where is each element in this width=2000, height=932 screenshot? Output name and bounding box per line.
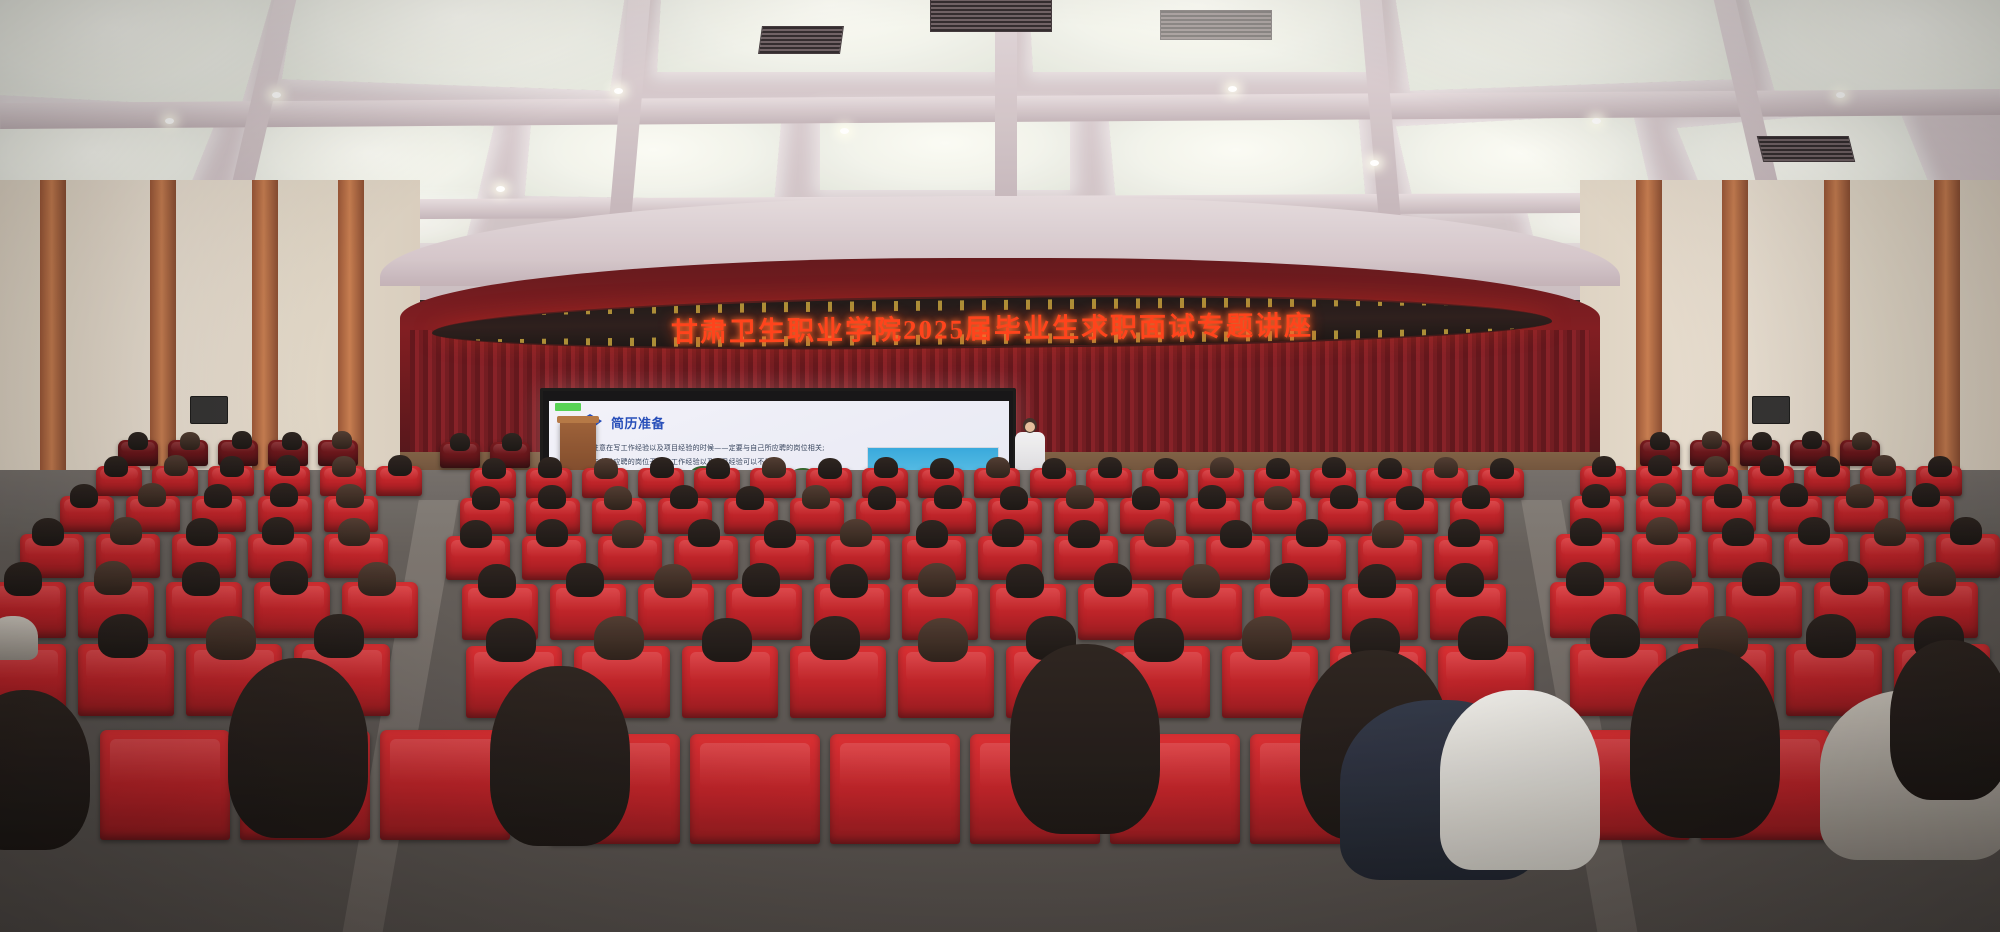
audience-member: [688, 519, 720, 547]
audience-member: [1806, 614, 1856, 658]
audience-member: [486, 618, 536, 662]
audience-member: [182, 562, 220, 596]
audience-member: [1830, 561, 1868, 595]
audience-member: [762, 457, 786, 478]
audience-member: [594, 458, 618, 479]
audience-member: [818, 458, 842, 479]
audience-member: [934, 485, 962, 509]
ceiling-air-vent: [1160, 10, 1272, 40]
audience-member: [1490, 458, 1514, 479]
audience-member: [1458, 616, 1508, 660]
audience-member: [1198, 485, 1226, 509]
audience-member: [104, 456, 128, 477]
audience-member: [332, 456, 356, 477]
audience-member: [1000, 486, 1028, 510]
audience-member: [1462, 485, 1490, 509]
audience-member: [1154, 458, 1178, 479]
audience-member: [1654, 561, 1692, 595]
audience-member: [986, 457, 1010, 478]
audience-member: [332, 431, 352, 449]
audience-member: [282, 432, 302, 450]
audience-member: [1098, 457, 1122, 478]
audience-member: [1220, 520, 1252, 548]
auditorium-seat: [100, 730, 230, 840]
audience-member: [868, 486, 896, 510]
audience-member: [314, 614, 364, 658]
audience-member: [1912, 483, 1940, 507]
audience-member: [110, 517, 142, 545]
audience-member: [502, 433, 522, 451]
audience-member: [450, 433, 470, 451]
audience-member: [536, 519, 568, 547]
wall-wood-panel: [40, 180, 66, 510]
audience-member: [918, 618, 968, 662]
audience-member: [1266, 458, 1290, 479]
audience-member: [128, 432, 148, 450]
ceiling-light-panel: [525, 116, 782, 200]
ceiling-light-panel: [282, 0, 628, 91]
audience-member: [1434, 457, 1458, 478]
audience-member: [1648, 455, 1672, 476]
audience-member: [1928, 456, 1952, 477]
recessed-ceiling-spotlight: [496, 186, 505, 192]
audience-member: [1094, 563, 1132, 597]
slide-bullet-text: 注意在写工作经验以及项目经验的时候——定要与自己所应聘的岗位相关;: [592, 444, 825, 452]
audience-member: [1448, 519, 1480, 547]
audience-member: [604, 486, 632, 510]
audience-member: [4, 562, 42, 596]
audience-member: [1330, 485, 1358, 509]
slide-bullet: • 注意在写工作经验以及项目经验的时候——定要与自己所应聘的岗位相关;: [585, 443, 825, 453]
audience-member: [1582, 484, 1610, 508]
audience-member: [538, 485, 566, 509]
recessed-ceiling-spotlight: [1228, 86, 1237, 92]
audience-member: [1010, 644, 1160, 834]
audience-member: [276, 455, 300, 476]
audience-member: [706, 458, 730, 479]
audience-member: [538, 457, 562, 478]
audience-member: [1296, 519, 1328, 547]
audience-member: [228, 658, 368, 838]
audience-member: [1242, 616, 1292, 660]
audience-member: [0, 616, 38, 660]
audience-member: [1068, 520, 1100, 548]
audience-member: [594, 616, 644, 660]
audience-member: [612, 520, 644, 548]
slide-status-indicator: [555, 403, 581, 411]
audience-member: [1650, 432, 1670, 450]
recessed-ceiling-spotlight: [1592, 118, 1601, 124]
audience-member: [270, 483, 298, 507]
audience-member: [1566, 562, 1604, 596]
podium-top: [557, 416, 599, 423]
audience-member: [1144, 519, 1176, 547]
audience-member: [566, 563, 604, 597]
audience-member: [220, 456, 244, 477]
ceiling-light-panel: [1392, 0, 1738, 91]
audience-member: [1752, 432, 1772, 450]
audience-member: [1570, 518, 1602, 546]
auditorium-photo: 甘肃卫生职业学院2025届毕业生求职面试专题讲座 简历准备 • 注意在写工作经验…: [0, 0, 2000, 932]
audience-member: [916, 520, 948, 548]
recessed-ceiling-spotlight: [1836, 92, 1845, 98]
audience-member: [1852, 432, 1872, 450]
audience-member: [1042, 458, 1066, 479]
audience-member: [1872, 455, 1896, 476]
audience-member: [490, 666, 630, 846]
audience-member: [1890, 640, 2000, 800]
recessed-ceiling-spotlight: [1370, 160, 1379, 166]
audience-member: [810, 616, 860, 660]
audience-member: [702, 618, 752, 662]
recessed-ceiling-spotlight: [165, 118, 174, 124]
ceiling-air-vent: [930, 0, 1052, 32]
slide-bullet-text: 与自己应聘的岗位无关的工作经验以及项目经验可以不用写;: [592, 458, 782, 466]
audience-member: [840, 519, 872, 547]
audience-member: [1950, 517, 1982, 545]
ceiling-light-panel: [820, 112, 1070, 190]
audience-member: [1714, 484, 1742, 508]
audience-member: [1396, 486, 1424, 510]
slide-title: 简历准备: [611, 413, 665, 432]
audience-member: [1648, 483, 1676, 507]
audience-member: [1440, 690, 1600, 870]
ceiling-air-vent: [758, 26, 844, 54]
audience-member: [206, 616, 256, 660]
audience-member: [1378, 458, 1402, 479]
auditorium-seat: [830, 734, 960, 844]
audience-member: [918, 563, 956, 597]
auditorium-seat: [690, 734, 820, 844]
audience-member: [478, 564, 516, 598]
audience-member: [32, 518, 64, 546]
audience-member: [1816, 456, 1840, 477]
audience-member: [336, 484, 364, 508]
recessed-ceiling-spotlight: [614, 88, 623, 94]
audience-member: [650, 457, 674, 478]
audience-member: [1646, 517, 1678, 545]
audience-member: [1722, 518, 1754, 546]
audience-member: [180, 432, 200, 450]
ceiling-air-vent: [1757, 136, 1855, 162]
audience-member: [742, 563, 780, 597]
audience-member: [802, 485, 830, 509]
audience-member: [1798, 517, 1830, 545]
audience-member: [736, 486, 764, 510]
audience-member: [270, 561, 308, 595]
audience-member: [1270, 563, 1308, 597]
audience-member: [1846, 484, 1874, 508]
audience-member: [94, 561, 132, 595]
audience-member: [262, 517, 294, 545]
audience-member: [992, 519, 1024, 547]
audience-member: [388, 455, 412, 476]
audience-member: [1264, 486, 1292, 510]
audience-member: [1874, 518, 1906, 546]
ceiling-light-panel: [1109, 116, 1366, 200]
audience-member: [482, 458, 506, 479]
audience-member: [1066, 485, 1094, 509]
wall-speaker-box: [1752, 396, 1790, 424]
audience-member: [1742, 562, 1780, 596]
audience-member: [1322, 457, 1346, 478]
recessed-ceiling-spotlight: [840, 128, 849, 134]
audience-member: [1446, 563, 1484, 597]
audience-member: [1358, 564, 1396, 598]
audience-member: [138, 483, 166, 507]
audience-member: [1704, 456, 1728, 477]
wall-speaker-box: [190, 396, 228, 424]
recessed-ceiling-spotlight: [272, 92, 281, 98]
audience-member: [670, 485, 698, 509]
audience-member: [1134, 618, 1184, 662]
audience-member: [472, 486, 500, 510]
audience-member: [1590, 614, 1640, 658]
audience-member: [98, 614, 148, 658]
audience-member: [830, 564, 868, 598]
audience-member: [338, 518, 370, 546]
audience-member: [1918, 562, 1956, 596]
audience-member: [764, 520, 796, 548]
audience-member: [1592, 456, 1616, 477]
audience-member: [1802, 431, 1822, 449]
audience-member: [874, 457, 898, 478]
audience-member: [930, 458, 954, 479]
audience-member: [70, 484, 98, 508]
ceiling-beam: [995, 0, 1017, 215]
audience-member: [1182, 564, 1220, 598]
podium: [560, 420, 596, 474]
audience-member: [1006, 564, 1044, 598]
presenter-face: [1025, 422, 1035, 432]
ceiling-light-panel: [0, 0, 275, 108]
audience-member: [1210, 457, 1234, 478]
audience-member: [186, 518, 218, 546]
audience-member: [654, 564, 692, 598]
audience-member: [460, 520, 492, 548]
audience-member: [1760, 455, 1784, 476]
audience-member: [1372, 520, 1404, 548]
audience-member: [164, 455, 188, 476]
audience-member: [1630, 648, 1780, 838]
audience-member: [1780, 483, 1808, 507]
audience-member: [1132, 486, 1160, 510]
audience-member: [204, 484, 232, 508]
audience-member: [1702, 431, 1722, 449]
audience-member: [232, 431, 252, 449]
audience-member: [358, 562, 396, 596]
